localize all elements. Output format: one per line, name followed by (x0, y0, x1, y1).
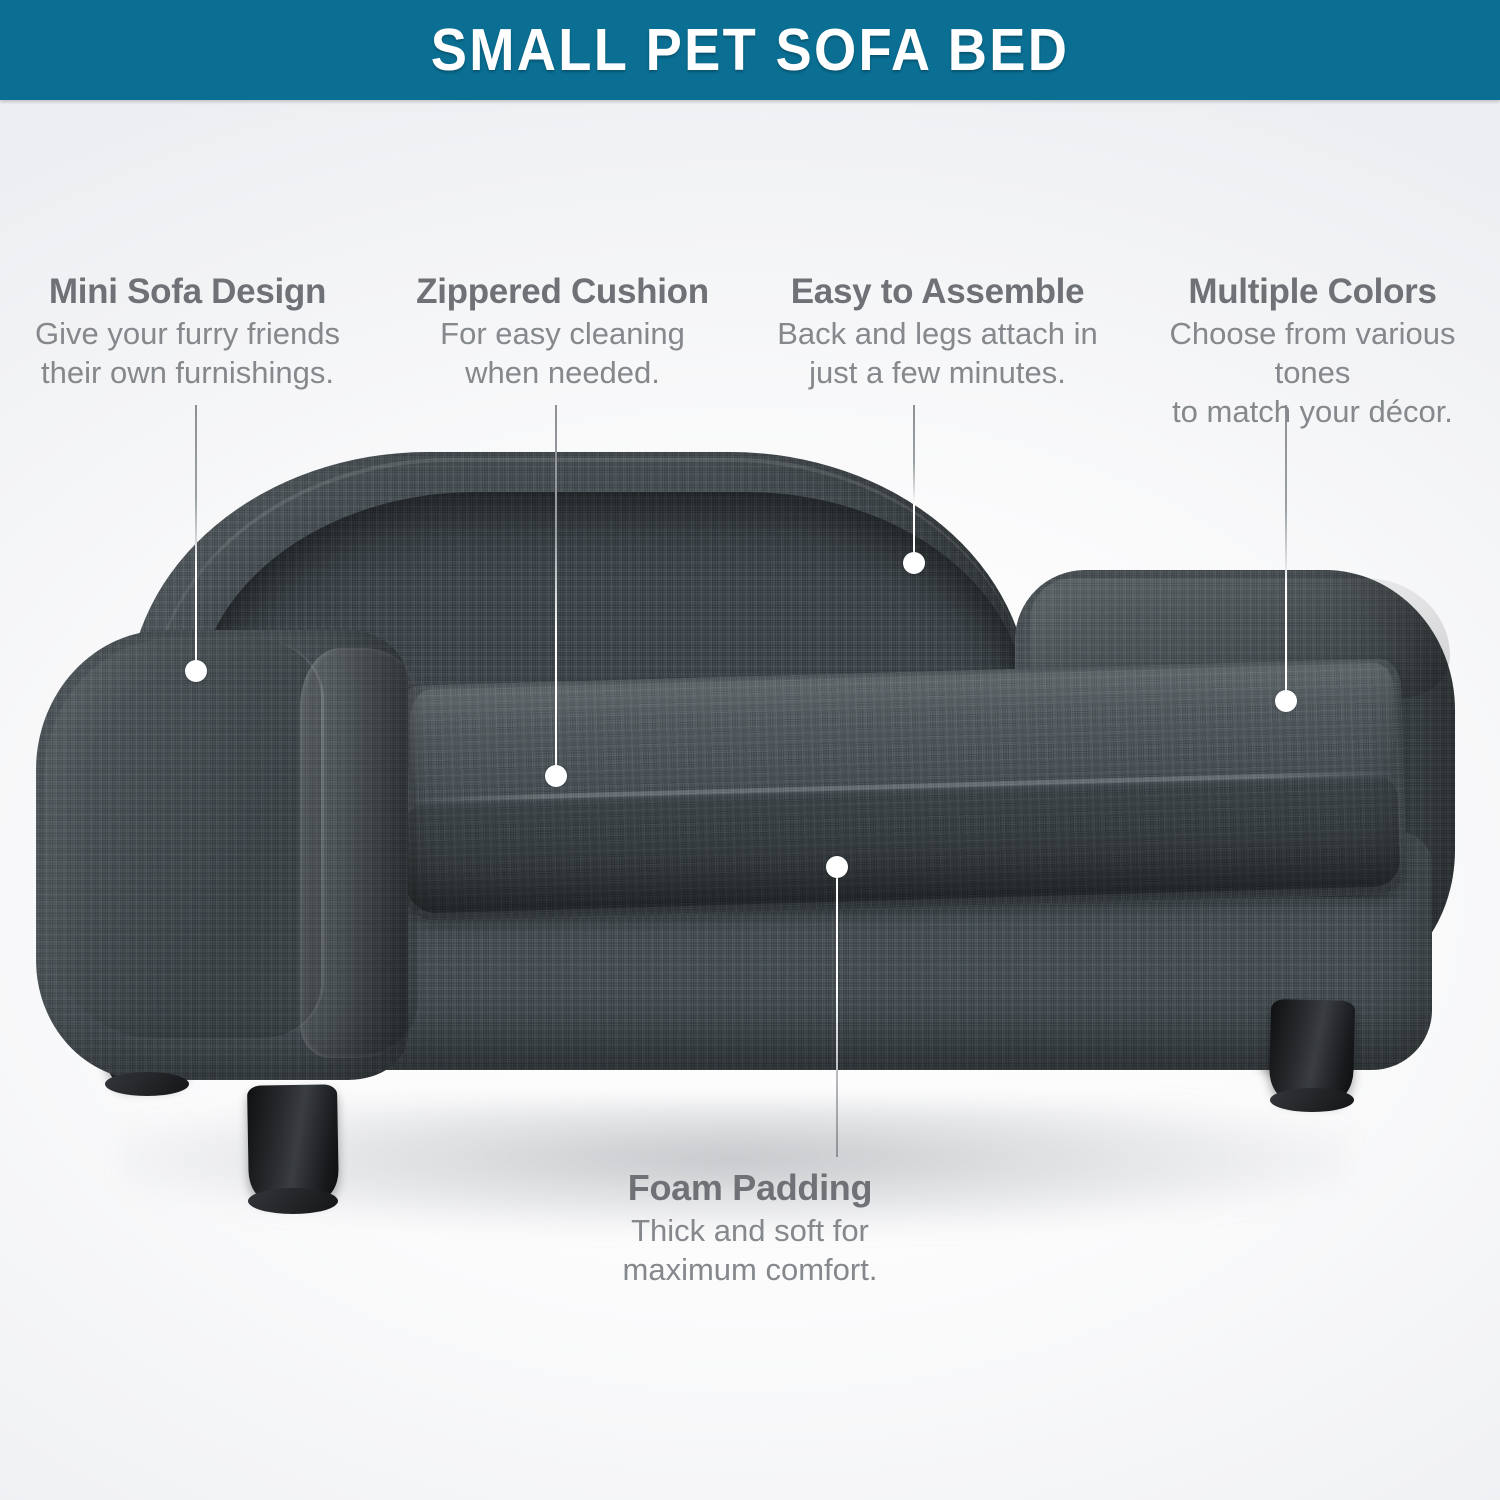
feature-description-line-1: Choose from various tones (1133, 315, 1492, 393)
feature-title: Mini Sofa Design (8, 272, 367, 311)
product-infographic: SMALL PET SOFA BED (0, 0, 1500, 1500)
feature-zippered-cushion: Zippered Cushion For easy cleaning when … (375, 272, 750, 431)
feature-description-line-1: For easy cleaning (383, 315, 742, 354)
sofa-leg-front-left (247, 1084, 339, 1201)
feature-title: Easy to Assemble (758, 272, 1117, 311)
sofa-leg-front-right (1269, 999, 1356, 1101)
feature-foam-padding: Foam Padding Thick and soft for maximum … (560, 1168, 940, 1290)
feature-description-line-2: their own furnishings. (8, 354, 367, 393)
feature-easy-to-assemble: Easy to Assemble Back and legs attach in… (750, 272, 1125, 431)
sofa-armrest-left-face (44, 638, 324, 1038)
feature-list: Mini Sofa Design Give your furry friends… (0, 272, 1500, 431)
feature-description-line-1: Back and legs attach in (758, 315, 1117, 354)
sofa-leg-rear-left-cap (105, 1072, 189, 1096)
feature-description-line-1: Thick and soft for (560, 1212, 940, 1251)
feature-title: Zippered Cushion (383, 272, 742, 311)
feature-description-line-2: to match your décor. (1133, 393, 1492, 432)
feature-title: Foam Padding (560, 1168, 940, 1208)
sofa-armrest-left-piping (300, 648, 418, 1058)
sofa-leg-front-right-cap (1270, 1088, 1354, 1112)
feature-description-line-2: when needed. (383, 354, 742, 393)
feature-multiple-colors: Multiple Colors Choose from various tone… (1125, 272, 1500, 431)
sofa-leg-front-left-cap (248, 1188, 338, 1214)
header-banner: SMALL PET SOFA BED (0, 0, 1500, 100)
feature-title: Multiple Colors (1133, 272, 1492, 311)
page-title: SMALL PET SOFA BED (431, 21, 1070, 80)
feature-description-line-2: maximum comfort. (560, 1251, 940, 1290)
feature-description-line-2: just a few minutes. (758, 354, 1117, 393)
feature-mini-sofa-design: Mini Sofa Design Give your furry friends… (0, 272, 375, 431)
feature-description-line-1: Give your furry friends (8, 315, 367, 354)
